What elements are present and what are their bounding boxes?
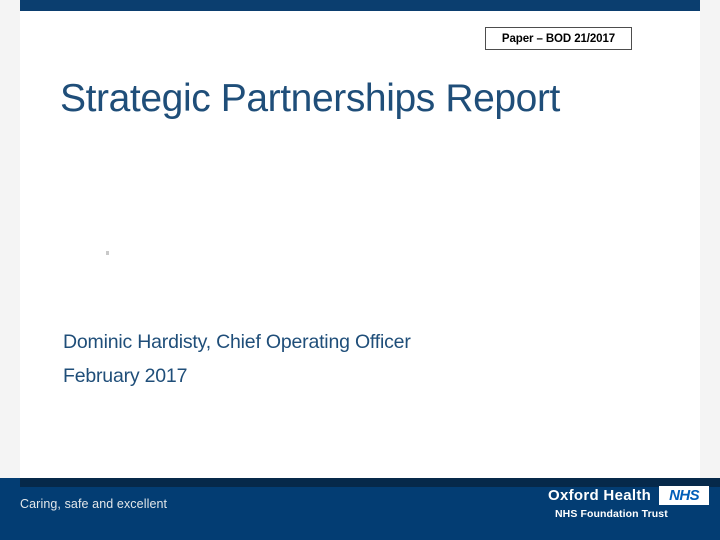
nhs-trust-logo: Oxford Health NHS NHS Foundation Trust — [548, 486, 708, 530]
slide-subtitle: Dominic Hardisty, Chief Operating Office… — [63, 326, 411, 393]
organisation-name: Oxford Health — [548, 487, 651, 504]
presentation-slide: Paper – BOD 21/2017 Strategic Partnershi… — [0, 0, 720, 540]
logo-primary-row: Oxford Health NHS — [548, 486, 709, 505]
stray-mark — [106, 251, 109, 255]
paper-reference-label: Paper – BOD 21/2017 — [502, 33, 615, 45]
paper-reference-box: Paper – BOD 21/2017 — [485, 27, 632, 50]
slide-canvas — [20, 0, 700, 478]
slide-title: Strategic Partnerships Report — [60, 77, 560, 122]
nhs-logo-icon: NHS — [659, 486, 709, 505]
presenter-line: Dominic Hardisty, Chief Operating Office… — [63, 326, 411, 360]
top-accent-bar — [20, 0, 700, 11]
footer-tagline: Caring, safe and excellent — [20, 497, 167, 511]
trust-status-label: NHS Foundation Trust — [555, 508, 668, 520]
date-line: February 2017 — [63, 360, 411, 394]
nhs-logo-text: NHS — [669, 488, 699, 503]
